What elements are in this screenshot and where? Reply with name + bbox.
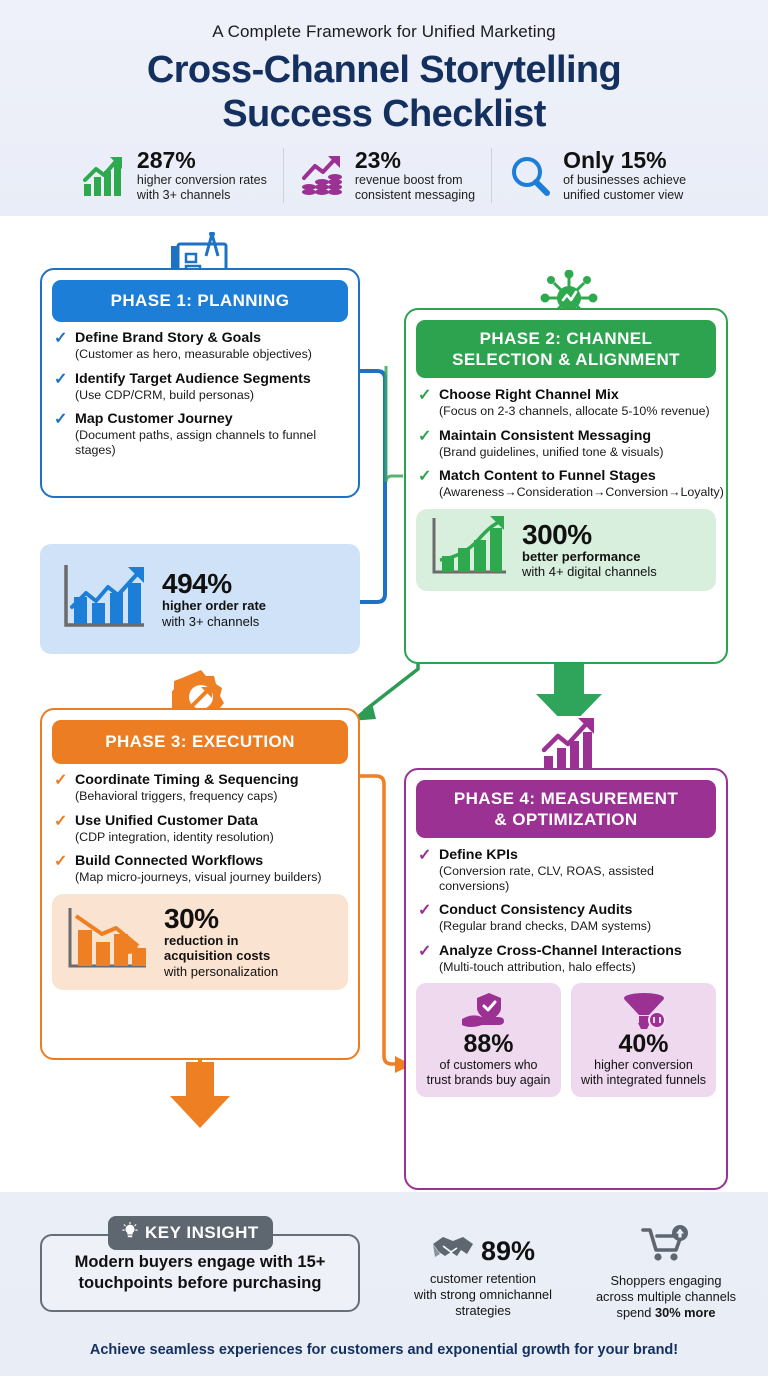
phase-1-stat-line1: higher order rate [162,598,266,614]
phase-2-stat-value: 300% [522,520,657,549]
phase-2-stat-text: 300% better performance with 4+ digital … [522,520,657,580]
growth-bar-chart-icon [82,154,128,198]
phase-1-title-badge: PHASE 1: PLANNING [52,280,348,322]
phase-2-item-2: ✓ Maintain Consistent Messaging (Brand g… [418,428,714,460]
header-stat-1-line2: with 3+ channels [137,188,267,203]
phase-1-item-3-detail: (Document paths, assign channels to funn… [75,428,346,457]
phase-2-title-line2: SELECTION & ALIGNMENT [452,349,680,370]
key-insight-line1: Modern buyers engage with 15+ [75,1252,326,1273]
phase-4-item-1: ✓ Define KPIs (Conversion rate, CLV, ROA… [418,847,714,893]
footer-stat-1-value: 89% [481,1236,535,1266]
purple-trend-chart-icon [536,716,600,776]
header-stat-3-value: Only 15% [563,147,667,173]
footer-tagline: Achieve seamless experiences for custome… [0,1342,768,1358]
connector-phase3-to-phase4 [359,776,398,1064]
header-kicker: A Complete Framework for Unified Marketi… [0,22,768,42]
check-icon: ✓ [54,330,68,362]
phase-4-item-2: ✓ Conduct Consistency Audits (Regular br… [418,902,714,934]
footer-stat-1-line3: strategies [398,1303,568,1319]
phase-2-item-3: ✓ Match Content to Funnel Stages (Awaren… [418,468,714,500]
orange-declining-bar-icon [62,902,154,981]
phase-4-items: ✓ Define KPIs (Conversion rate, CLV, ROA… [406,847,726,974]
phase-4-mini-1-line2: trust brands buy again [420,1073,557,1088]
key-insight-badge: KEY INSIGHT [108,1216,273,1250]
phase-1-item-1-heading: Define Brand Story & Goals [75,330,312,346]
phase-4-item-3: ✓ Analyze Cross-Channel Interactions (Mu… [418,943,714,975]
phase-2-stat-box: 300% better performance with 4+ digital … [416,509,716,591]
check-icon: ✓ [54,772,68,804]
page-title: Cross-Channel Storytelling Success Check… [0,48,768,136]
phase-3-item-2-detail: (CDP integration, identity resolution) [75,830,274,845]
phase-1-item-1-detail: (Customer as hero, measurable objectives… [75,347,312,362]
coins-growth-icon [300,154,346,198]
phase-1-items: ✓ Define Brand Story & Goals (Customer a… [42,330,358,457]
phase-4-card: PHASE 4: MEASUREMENT & OPTIMIZATION ✓ De… [404,768,728,1190]
check-icon: ✓ [54,411,68,457]
phase-2-item-2-heading: Maintain Consistent Messaging [439,428,664,444]
shopping-cart-up-icon [641,1224,691,1269]
header-stat-2: 23% revenue boost from consistent messag… [283,148,491,203]
key-insight-text: Modern buyers engage with 15+ touchpoint… [67,1252,334,1294]
check-icon: ✓ [418,943,432,975]
check-icon: ✓ [54,813,68,845]
phase-4-mini-2-line1: higher conversion [575,1058,712,1073]
header-stat-1: 287% higher conversion rates with 3+ cha… [66,148,283,203]
phase-4-mini-2: 40% higher conversion with integrated fu… [571,983,716,1097]
phase-3-stat-line2: acquisition costs [164,948,278,964]
connector-arrow-orange-down [170,1062,230,1128]
check-icon: ✓ [418,468,432,500]
main-flow-area: PHASE 1: PLANNING ✓ Define Brand Story &… [0,216,768,1192]
phase-4-item-3-heading: Analyze Cross-Channel Interactions [439,943,682,959]
header-stat-2-value: 23% [355,147,401,173]
check-icon: ✓ [418,387,432,419]
phase-1-stat-line2: with 3+ channels [162,614,266,630]
phase-1-item-2-heading: Identify Target Audience Segments [75,371,311,387]
phase-2-title-badge: PHASE 2: CHANNEL SELECTION & ALIGNMENT [416,320,716,378]
phase-4-item-3-detail: (Multi-touch attribution, halo effects) [439,960,682,975]
lightbulb-icon [122,1222,138,1245]
phase-2-item-3-detail: (Awareness→Consideration→Conversion→Loya… [439,485,724,500]
phase-1-card: PHASE 1: PLANNING ✓ Define Brand Story &… [40,268,360,498]
footer-stat-2-line3-bold: 30% more [655,1305,715,1320]
check-icon: ✓ [54,371,68,403]
header-stat-3: Only 15% of businesses achieve unified c… [491,148,702,203]
phase-4-mini-2-value: 40% [575,1031,712,1058]
funnel-icon [575,991,712,1031]
footer-stat-2: Shoppers engaging across multiple channe… [578,1224,754,1321]
phase-2-item-1-detail: (Focus on 2-3 channels, allocate 5-10% r… [439,404,710,419]
phase-4-mini-2-line2: with integrated funnels [575,1073,712,1088]
phase-3-item-2: ✓ Use Unified Customer Data (CDP integra… [54,813,346,845]
header-stat-3-text: Only 15% of businesses achieve unified c… [563,148,686,203]
phase-3-item-2-heading: Use Unified Customer Data [75,813,274,829]
check-icon: ✓ [418,902,432,934]
phase-3-items: ✓ Coordinate Timing & Sequencing (Behavi… [42,772,358,885]
key-insight-line2: touchpoints before purchasing [75,1273,326,1294]
header-band: A Complete Framework for Unified Marketi… [0,0,768,216]
header-stat-2-text: 23% revenue boost from consistent messag… [355,148,475,203]
phase-1-item-2: ✓ Identify Target Audience Segments (Use… [54,371,346,403]
connector-phase2-to-phase3 [364,656,418,711]
phase-3-item-3-detail: (Map micro-journeys, visual journey buil… [75,870,322,885]
shield-hand-icon [420,991,557,1031]
header-stat-1-line1: higher conversion rates [137,173,267,188]
header-stat-2-line2: consistent messaging [355,188,475,203]
phase-3-stat-value: 30% [164,904,278,933]
phase-2-title-line1: PHASE 2: CHANNEL [480,328,653,349]
phase-1-item-2-detail: (Use CDP/CRM, build personas) [75,388,311,403]
key-insight-badge-label: KEY INSIGHT [145,1223,259,1243]
phase-1-item-1: ✓ Define Brand Story & Goals (Customer a… [54,330,346,362]
phase-2-item-1-heading: Choose Right Channel Mix [439,387,710,403]
phase-4-mini-1: 88% of customers who trust brands buy ag… [416,983,561,1097]
header-stat-1-value: 287% [137,147,196,173]
handshake-icon [431,1232,475,1269]
phase-3-item-1-heading: Coordinate Timing & Sequencing [75,772,299,788]
phase-2-stat-line2: with 4+ digital channels [522,564,657,580]
header-stat-3-line2: unified customer view [563,188,686,203]
header-stat-1-text: 287% higher conversion rates with 3+ cha… [137,148,267,203]
connector-phase2-left [386,366,403,482]
phase-4-title-line2: & OPTIMIZATION [494,809,637,830]
footer-stat-1: 89% customer retention with strong omnic… [398,1232,568,1319]
phase-2-card: PHASE 2: CHANNEL SELECTION & ALIGNMENT ✓… [404,308,728,664]
phase-3-card: PHASE 3: EXECUTION ✓ Coordinate Timing &… [40,708,360,1060]
phase-4-mini-stats: 88% of customers who trust brands buy ag… [416,983,716,1097]
footer-stat-1-line2: with strong omnichannel [398,1287,568,1303]
footer-band: Modern buyers engage with 15+ touchpoint… [0,1192,768,1376]
footer-stat-1-line1: customer retention [398,1271,568,1287]
header-stat-3-line1: of businesses achieve [563,173,686,188]
magnifier-icon [508,154,554,198]
phase-4-item-1-heading: Define KPIs [439,847,714,863]
phase-3-title: PHASE 3: EXECUTION [105,732,295,752]
phase-3-stat-line1: reduction in [164,933,278,949]
phase-2-items: ✓ Choose Right Channel Mix (Focus on 2-3… [406,387,726,500]
blue-bar-line-up-icon [56,557,152,642]
phase-4-title-line1: PHASE 4: MEASUREMENT [454,788,678,809]
footer-stat-2-line3: spend [617,1305,655,1320]
phase-4-item-2-detail: (Regular brand checks, DAM systems) [439,919,651,934]
green-bar-growth-icon [426,512,512,587]
phase-2-stat-line1: better performance [522,549,657,565]
phase-4-title-badge: PHASE 4: MEASUREMENT & OPTIMIZATION [416,780,716,838]
phase-1-stat-text: 494% higher order rate with 3+ channels [162,569,266,629]
phase-2-item-1: ✓ Choose Right Channel Mix (Focus on 2-3… [418,387,714,419]
phase-3-item-1-detail: (Behavioral triggers, frequency caps) [75,789,299,804]
phase-3-title-badge: PHASE 3: EXECUTION [52,720,348,764]
phase-3-item-3-heading: Build Connected Workflows [75,853,322,869]
check-icon: ✓ [418,428,432,460]
phase-2-item-3-heading: Match Content to Funnel Stages [439,468,724,484]
phase-3-stat-text: 30% reduction in acquisition costs with … [164,904,278,980]
phase-3-stat-line3: with personalization [164,964,278,980]
phase-3-stat-box: 30% reduction in acquisition costs with … [52,894,348,990]
phase-1-item-3-heading: Map Customer Journey [75,411,346,427]
phase-2-item-2-detail: (Brand guidelines, unified tone & visual… [439,445,664,460]
phase-4-mini-1-value: 88% [420,1031,557,1058]
phase-4-item-2-heading: Conduct Consistency Audits [439,902,651,918]
phase-3-item-1: ✓ Coordinate Timing & Sequencing (Behavi… [54,772,346,804]
phase-4-mini-1-line1: of customers who [420,1058,557,1073]
header-stats: 287% higher conversion rates with 3+ cha… [0,148,768,203]
page-title-line1: Cross-Channel Storytelling [0,48,768,92]
phase-1-item-3: ✓ Map Customer Journey (Document paths, … [54,411,346,457]
header-stat-2-line1: revenue boost from [355,173,475,188]
phase-4-item-1-detail: (Conversion rate, CLV, ROAS, assisted co… [439,864,714,893]
footer-stat-2-line2: across multiple channels [578,1289,754,1305]
footer-stat-2-line1: Shoppers engaging [578,1273,754,1289]
infographic-page: A Complete Framework for Unified Marketi… [0,0,768,1376]
phase-1-stat-box: 494% higher order rate with 3+ channels [40,544,360,654]
check-icon: ✓ [418,847,432,893]
phase-1-title: PHASE 1: PLANNING [111,291,290,311]
page-title-line2: Success Checklist [0,92,768,136]
phase-1-stat-value: 494% [162,569,266,598]
phase-3-item-3: ✓ Build Connected Workflows (Map micro-j… [54,853,346,885]
check-icon: ✓ [54,853,68,885]
